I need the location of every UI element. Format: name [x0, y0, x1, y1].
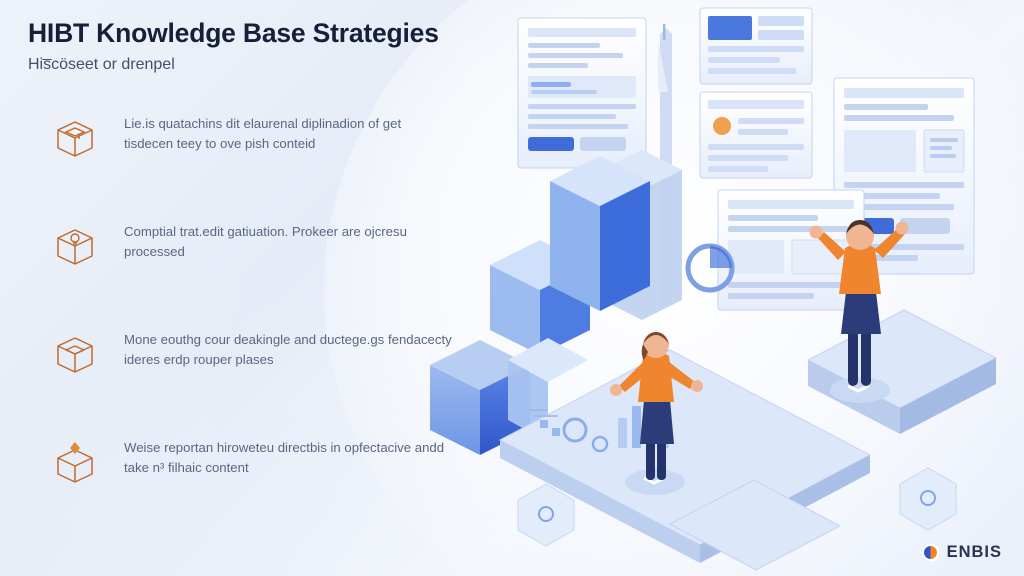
dashboard-panel-top-center — [700, 8, 812, 84]
list-item: Mone eouthg cour deakingle and ductege.g… — [52, 328, 452, 414]
box-diamond-icon — [52, 440, 98, 486]
page-subtitle: His̅cöseet or drenpel — [28, 56, 458, 74]
isometric-data-analytics-scene — [400, 0, 1024, 576]
box-bulb-icon — [52, 224, 98, 270]
hexagon-tile-right — [900, 468, 956, 530]
hexagon-tile-left — [518, 484, 574, 546]
list-item: Weise reportan hiroweteu directbis in op… — [52, 436, 452, 522]
pie-chart-circle — [688, 246, 732, 290]
dashboard-panel-top-right — [700, 92, 812, 178]
box-cube-icon — [52, 332, 98, 378]
brand-logo: ENBIS — [921, 543, 1002, 562]
circle-split-icon — [921, 543, 940, 562]
slide-canvas: HIBT Knowledge Base Strategies His̅cösee… — [0, 0, 1024, 576]
list-item: Comptial trat.edit gatiuation. Prokeer a… — [52, 220, 452, 306]
dashboard-panel-top-left — [518, 18, 646, 168]
right-pedestal — [808, 310, 996, 434]
illustration-svg — [400, 0, 1024, 576]
box-graduation-icon — [52, 116, 98, 162]
bullet-list: Lie.is quatachins dit elaurenal diplinad… — [52, 112, 452, 544]
list-item: Lie.is quatachins dit elaurenal diplinad… — [52, 112, 452, 198]
logo-text: ENBIS — [947, 543, 1002, 562]
